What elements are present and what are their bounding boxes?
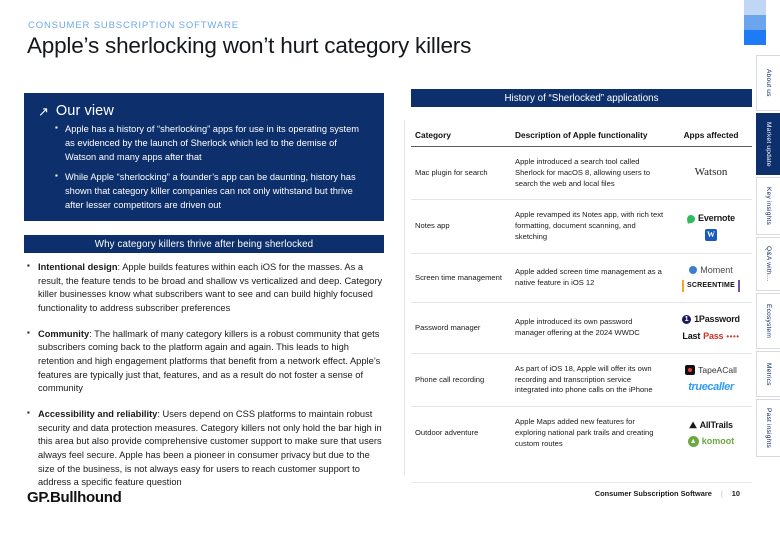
tapeacall-logo-text: TapeACall — [698, 364, 737, 376]
footer-meta: Consumer Subscription Software | 10 — [595, 489, 740, 498]
cell-description: Apple introduced a search tool called Sh… — [515, 147, 670, 200]
color-swatch-strip — [744, 0, 766, 45]
sidebar-tab-label: Market update — [765, 122, 772, 167]
reason-item: Accessibility and reliability: Users dep… — [27, 408, 387, 490]
cell-category: Outdoor adventure — [411, 407, 515, 460]
reason-lead: Intentional design — [38, 262, 118, 272]
app-logo-stack: ⛰AllTrails▲komoot — [670, 419, 752, 449]
onepassword-logo-text: 1Password — [694, 313, 740, 326]
truecaller-logo: truecaller — [688, 380, 734, 396]
brand-logo: GP.Bullhound — [27, 489, 121, 506]
our-view-bullet: Apple has a history of “sherlocking” app… — [56, 123, 368, 164]
microsoft-word-icon: W — [705, 229, 717, 241]
sidebar-tab-label: Q&A with… — [765, 246, 772, 282]
sidebar-tab-metrics[interactable]: Metrics — [756, 351, 780, 397]
evernote-logo: Evernote — [687, 212, 735, 225]
lastpass-logo-text-first: Last — [682, 330, 700, 343]
app-logo-stack: EvernoteW — [670, 212, 752, 241]
table-row: Screen time managementApple added screen… — [411, 253, 752, 303]
table-row: Password managerApple introduced its own… — [411, 303, 752, 354]
table-head: Category Description of Apple functional… — [411, 130, 752, 147]
cell-description: Apple added screen time management as a … — [515, 253, 670, 303]
onepassword-mark-icon: 1 — [682, 315, 691, 324]
sidebar-tab-label: Ecosystem — [765, 304, 772, 338]
cell-description: Apple Maps added new features for explor… — [515, 407, 670, 460]
footer-doc-name: Consumer Subscription Software — [595, 489, 712, 498]
tapeacall-record-icon — [685, 365, 695, 375]
cell-apps-affected: MomentSCREENTIME — [670, 253, 752, 303]
cell-category: Mac plugin for search — [411, 147, 515, 200]
our-view-panel: ↗ Our view Apple has a history of “sherl… — [24, 93, 384, 221]
sidebar-tab-label: Past insights — [765, 408, 772, 448]
sidebar-tab-past-insights[interactable]: Past insights — [756, 399, 780, 457]
reason-body: : Users depend on CSS platforms to maint… — [38, 409, 382, 487]
color-swatch-1 — [744, 0, 766, 15]
sidebar-tab-q-a-with[interactable]: Q&A with… — [756, 237, 780, 291]
our-view-header: ↗ Our view — [38, 103, 368, 119]
slide-eyebrow: CONSUMER SUBSCRIPTION SOFTWARE — [28, 20, 239, 31]
reason-item: Community: The hallmark of many category… — [27, 328, 387, 396]
footer-separator: | — [721, 489, 723, 498]
cell-apps-affected: 11PasswordLastPass•••• — [670, 303, 752, 354]
table-section-bar: History of “Sherlocked” applications — [411, 89, 752, 107]
watson-logo-text: Watson — [695, 165, 728, 181]
table-body: Mac plugin for searchApple introduced a … — [411, 147, 752, 460]
cell-category: Password manager — [411, 303, 515, 354]
microsoft-word-logo: W — [705, 229, 717, 241]
reasons-list: Intentional design: Apple builds feature… — [27, 261, 387, 502]
sidebar-tab-about-us[interactable]: About us — [756, 55, 780, 111]
sidebar-tab-market-update[interactable]: Market update — [756, 113, 780, 175]
lastpass-dots-icon: •••• — [726, 331, 739, 342]
truecaller-logo-text: truecaller — [688, 380, 734, 396]
our-view-bullet-list: Apple has a history of “sherlocking” app… — [56, 123, 368, 213]
slide-root: CONSUMER SUBSCRIPTION SOFTWARE Apple’s s… — [0, 0, 780, 540]
app-logo-stack: TapeACalltruecaller — [670, 364, 752, 396]
cell-apps-affected: TapeACalltruecaller — [670, 353, 752, 406]
app-logo-stack: Watson — [670, 165, 752, 181]
cell-apps-affected: ⛰AllTrails▲komoot — [670, 407, 752, 460]
our-view-title: Our view — [56, 103, 114, 119]
record-dot-icon — [688, 368, 692, 372]
col-header-apps-affected: Apps affected — [670, 130, 752, 147]
reason-lead: Community — [38, 329, 89, 339]
sherlocked-applications-table: Category Description of Apple functional… — [411, 130, 752, 460]
cell-apps-affected: EvernoteW — [670, 200, 752, 253]
app-logo-stack: MomentSCREENTIME — [670, 264, 752, 293]
moment-logo-text: Moment — [700, 264, 733, 277]
why-section-bar: Why category killers thrive after being … — [24, 235, 384, 253]
cell-apps-affected: Watson — [670, 147, 752, 200]
komoot-logo: ▲komoot — [688, 435, 735, 448]
sidebar-tab-label: Metrics — [765, 363, 772, 386]
page-title: Apple’s sherlocking won’t hurt category … — [27, 33, 471, 59]
alltrails-logo-text: AllTrails — [700, 419, 733, 432]
our-view-bullet: While Apple “sherlocking” a founder’s ap… — [56, 171, 368, 212]
screentime-logo: SCREENTIME — [682, 280, 740, 292]
moment-logo: Moment — [689, 264, 733, 277]
lastpass-logo-text-second: Pass — [703, 330, 723, 343]
table-row: Mac plugin for searchApple introduced a … — [411, 147, 752, 200]
cell-category: Screen time management — [411, 253, 515, 303]
table-row: Outdoor adventureApple Maps added new fe… — [411, 407, 752, 460]
screentime-logo-text: SCREENTIME — [682, 280, 740, 292]
cell-category: Phone call recording — [411, 353, 515, 406]
sidebar-tab-label: About us — [765, 69, 772, 97]
table-row: Notes appApple revamped its Notes app, w… — [411, 200, 752, 253]
evernote-elephant-icon — [686, 214, 695, 223]
section-tab-rail[interactable]: About usMarket updateKey insightsQ&A wit… — [756, 55, 780, 459]
reason-item: Intentional design: Apple builds feature… — [27, 261, 387, 316]
arrow-northeast-icon: ↗ — [38, 105, 49, 118]
color-swatch-2 — [744, 15, 766, 30]
app-logo-stack: 11PasswordLastPass•••• — [670, 313, 752, 343]
sidebar-tab-key-insights[interactable]: Key insights — [756, 177, 780, 235]
lastpass-logo: LastPass•••• — [682, 330, 739, 343]
col-header-description: Description of Apple functionality — [515, 130, 670, 147]
table-header-row: Category Description of Apple functional… — [411, 130, 752, 147]
onepassword-logo: 11Password — [682, 313, 740, 326]
watson-logo: Watson — [695, 165, 728, 181]
sidebar-tab-ecosystem[interactable]: Ecosystem — [756, 293, 780, 349]
cell-description: Apple revamped its Notes app, with rich … — [515, 200, 670, 253]
alltrails-logo: ⛰AllTrails — [689, 419, 733, 432]
table-row: Phone call recordingAs part of iOS 18, A… — [411, 353, 752, 406]
evernote-logo-text: Evernote — [698, 212, 735, 225]
footer-page-number: 10 — [732, 489, 740, 498]
tapeacall-logo: TapeACall — [685, 364, 737, 376]
color-swatch-3 — [744, 30, 766, 45]
cell-description: As part of iOS 18, Apple will offer its … — [515, 353, 670, 406]
column-divider — [404, 120, 405, 475]
reason-body: : The hallmark of many category killers … — [38, 329, 380, 394]
sidebar-tab-label: Key insights — [765, 187, 772, 225]
komoot-mark-icon: ▲ — [688, 436, 699, 447]
cell-description: Apple introduced its own password manage… — [515, 303, 670, 354]
reason-lead: Accessibility and reliability — [38, 409, 157, 419]
col-header-category: Category — [411, 130, 515, 147]
alltrails-mountain-icon: ⛰ — [689, 419, 696, 432]
moment-mark-icon — [689, 266, 697, 274]
footer-rule — [412, 482, 752, 483]
komoot-logo-text: komoot — [702, 435, 735, 448]
cell-category: Notes app — [411, 200, 515, 253]
